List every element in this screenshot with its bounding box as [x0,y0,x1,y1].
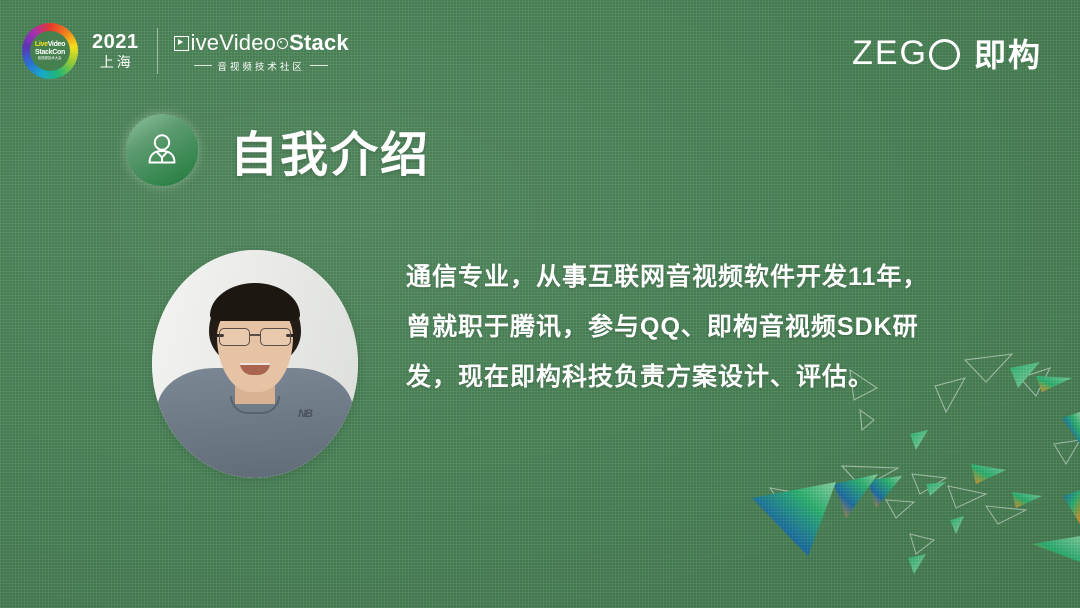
bio-line: 通信专业，从事互联网音视频软件开发11年， [406,252,966,302]
badge-line-3: 音视频技术大会 [38,58,62,61]
shirt-brand-logo: NB [298,408,312,420]
portrait-glasses [217,328,293,345]
speaker-portrait: NB [152,250,358,478]
person-icon [126,114,198,186]
badge-con-text: Con [52,49,65,56]
conference-city: 上海 [92,55,139,70]
livevideostack-wordmark: iveVideoStack 音视频技术社区 [174,30,349,73]
wordmark-subtitle: 音视频技术社区 [217,59,305,73]
subtitle-rule-left [194,65,212,66]
wordmark-part-2: Video [219,30,276,56]
zego-brand-logo: ZEG 即构 [852,30,1042,76]
bio-line: 发，现在即构科技负责方案设计、评估。 [406,352,966,402]
badge-live-text: Live [35,41,48,48]
glasses-lens-right [260,328,291,346]
conference-year-city: 2021 上海 [92,32,139,70]
bio-text-block: 通信专业，从事互联网音视频软件开发11年， 曾就职于腾讯，参与QQ、即构音视频S… [406,252,966,402]
section-title-row: 自我介绍 [126,114,430,186]
page-title: 自我介绍 [230,115,430,185]
livevideostackcon-badge-icon: LiveVideo StackCon 音视频技术大会 [22,23,78,79]
play-button-icon [174,36,189,51]
zego-ring-icon [929,39,960,70]
badge-inner: LiveVideo StackCon 音视频技术大会 [30,31,70,71]
zego-letters: ZEG [852,34,928,73]
conference-logo-lockup: LiveVideo StackCon 音视频技术大会 2021 上海 iveVi… [22,20,349,82]
wordmark-part-1: ive [191,30,220,56]
wordmark-subtitle-row: 音视频技术社区 [174,59,349,73]
zego-chinese-name: 即构 [974,30,1042,76]
subtitle-rule-right [310,65,328,66]
wordmark-text: iveVideoStack [174,30,349,56]
glasses-lens-left [219,328,250,346]
zego-wordmark: ZEG [852,34,960,73]
target-dot-icon [277,38,288,49]
conference-year: 2021 [92,32,139,53]
wordmark-part-3: Stack [289,30,349,56]
badge-stack-text: Stack [35,49,52,56]
bio-line: 曾就职于腾讯，参与QQ、即构音视频SDK研 [406,302,966,352]
badge-line-1: LiveVideo [35,41,65,48]
header-divider [157,28,158,74]
slide-canvas: LiveVideo StackCon 音视频技术大会 2021 上海 iveVi… [0,0,1080,608]
badge-line-2: StackCon [35,49,65,56]
badge-video-text: Video [48,41,65,48]
